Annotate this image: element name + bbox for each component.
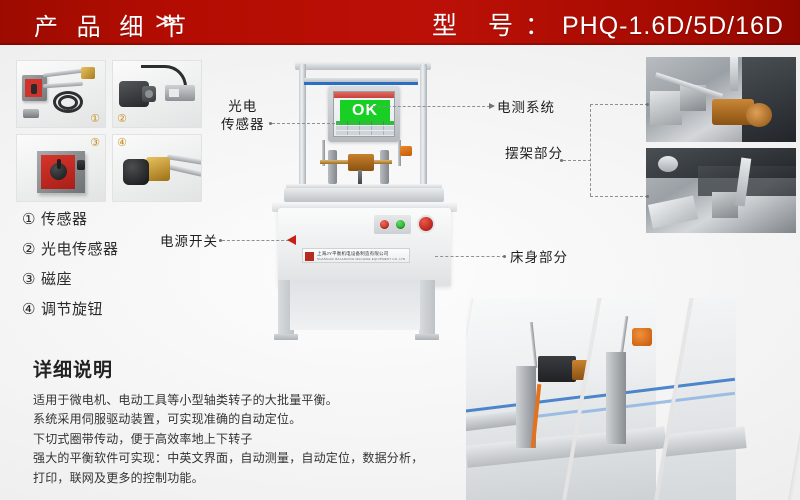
thumb-number-badge: ③ bbox=[90, 136, 100, 149]
leader-dot bbox=[646, 103, 649, 106]
legend-number: ② bbox=[22, 241, 36, 258]
thumbnail-magnetic-base[interactable]: ③ bbox=[16, 134, 106, 202]
callout-swing-frame: 摆架部分 bbox=[505, 142, 563, 162]
product-detail-page: 产 品 细 节 ≫ 型 号：PHQ-1.6D/5D/16D ① ② bbox=[0, 0, 800, 500]
coiled-cable bbox=[58, 95, 78, 110]
screen-row bbox=[336, 126, 394, 130]
control-panel[interactable]: OK bbox=[328, 86, 400, 142]
chevron-right-icon: ≫ bbox=[155, 9, 175, 34]
vertical-post bbox=[730, 57, 738, 91]
nameplate-logo-icon bbox=[305, 252, 314, 261]
cabinet-opening bbox=[290, 280, 420, 330]
model-label: 型 号： bbox=[432, 12, 562, 40]
machine-nameplate: 上海JY平衡机电设备制造有限公司 SHANGHAI BALANCING MACH… bbox=[302, 248, 410, 263]
bracket-branch-line bbox=[590, 196, 648, 197]
connector-pins bbox=[145, 90, 153, 98]
screen-status-ok: OK bbox=[340, 100, 390, 121]
screen-titlebar bbox=[334, 92, 394, 98]
rotor-armature bbox=[538, 356, 576, 382]
thumbnail-grid: ① ② ③ ④ bbox=[16, 60, 202, 204]
composite-machine-photo[interactable] bbox=[466, 298, 800, 500]
leader-dot bbox=[646, 195, 649, 198]
magnetic-base-body bbox=[37, 151, 85, 193]
leader-line bbox=[368, 106, 490, 107]
bracket-vertical-line bbox=[590, 104, 591, 196]
machine-foot bbox=[415, 334, 439, 340]
detail-photo-bed-assembly[interactable] bbox=[646, 148, 796, 233]
magnetic-base-knob bbox=[50, 163, 67, 180]
description-line: 下切式圈带传动，便于高效率地上下转子 bbox=[33, 430, 493, 449]
bracket-branch-line bbox=[590, 104, 648, 105]
model-value: PHQ-1.6D/5D/16D bbox=[562, 12, 784, 40]
callout-bed-section: 床身部分 bbox=[510, 246, 568, 266]
leader-line bbox=[222, 240, 294, 241]
thumbnail-adjust-knob[interactable]: ④ bbox=[112, 134, 202, 202]
balancing-machine-illustration: OK 上海JY平衡 bbox=[262, 58, 467, 348]
thumb-number-badge: ④ bbox=[117, 136, 127, 149]
leader-arrow-icon bbox=[287, 235, 296, 245]
machine-frame-top bbox=[295, 62, 431, 70]
support-arm bbox=[530, 322, 538, 368]
legend-label: 传感器 bbox=[41, 211, 88, 228]
description-line: 打印，联网及更多的控制功能。 bbox=[33, 469, 493, 488]
legend-item-magnetic-base: ③磁座 bbox=[22, 268, 118, 289]
description-block: 详细说明 适用于微电机、电动工具等小型轴类转子的大批量平衡。 系统采用伺服驱动装… bbox=[33, 355, 493, 488]
bracket-stub-line bbox=[563, 160, 591, 161]
callout-photoelectric-sensor: 光电 传感器 bbox=[221, 98, 265, 134]
machine-leg bbox=[419, 280, 435, 336]
photoelectric-sensor-body bbox=[165, 85, 195, 101]
detail-photo-rotor-clamp[interactable] bbox=[646, 57, 796, 142]
magnetic-base-stud bbox=[77, 160, 85, 170]
swing-tower bbox=[606, 352, 626, 444]
legend-item-photoelectric-sensor: ②光电传感器 bbox=[22, 238, 118, 259]
brass-fitting bbox=[81, 67, 95, 79]
swing-frame-left bbox=[328, 150, 337, 184]
machine-bed bbox=[284, 188, 444, 202]
stop-button[interactable] bbox=[380, 220, 389, 229]
leader-dot bbox=[560, 159, 563, 162]
start-button[interactable] bbox=[396, 220, 405, 229]
legend-item-adjust-knob: ④调节旋钮 bbox=[22, 298, 118, 319]
spherical-joint bbox=[658, 156, 678, 172]
hmi-screen[interactable]: OK bbox=[333, 91, 395, 137]
emergency-stop-button[interactable] bbox=[417, 215, 435, 233]
cable-connector bbox=[119, 81, 149, 107]
legend-number: ④ bbox=[22, 301, 36, 318]
description-heading: 详细说明 bbox=[33, 355, 493, 382]
machine-bed bbox=[655, 426, 747, 468]
orange-adjust-knob bbox=[632, 328, 652, 346]
callout-power-switch: 电源开关 bbox=[160, 230, 218, 250]
description-line: 适用于微电机、电动工具等小型轴类转子的大批量平衡。 bbox=[33, 391, 493, 410]
machine-rail-accent bbox=[304, 82, 418, 85]
leader-line bbox=[435, 256, 505, 257]
leader-dot bbox=[503, 255, 506, 258]
thumbnail-photoelectric-sensor[interactable]: ② bbox=[112, 60, 202, 128]
cable-plug bbox=[23, 109, 39, 118]
legend-list: ①传感器 ②光电传感器 ③磁座 ④调节旋钮 bbox=[22, 208, 118, 328]
legend-number: ③ bbox=[22, 271, 36, 288]
copper-winding bbox=[746, 103, 772, 127]
thumb-number-badge: ② bbox=[117, 112, 127, 125]
nameplate-company-en: SHANGHAI BALANCING MACHINE EQUIPMENT CO.… bbox=[317, 257, 405, 261]
swing-frame-right bbox=[380, 150, 389, 184]
callout-line-1: 光电 bbox=[221, 98, 265, 116]
thumbnail-sensor-kit[interactable]: ① bbox=[16, 60, 106, 128]
legend-number: ① bbox=[22, 211, 36, 228]
rotor-armature bbox=[348, 154, 374, 171]
legend-item-sensor: ①传感器 bbox=[22, 208, 118, 229]
model-number: 型 号：PHQ-1.6D/5D/16D bbox=[432, 6, 784, 42]
leader-arrow-icon bbox=[489, 103, 495, 109]
clamp-block bbox=[650, 91, 682, 125]
page-header: 产 品 细 节 ≫ 型 号：PHQ-1.6D/5D/16D bbox=[0, 0, 800, 45]
legend-label: 光电传感器 bbox=[41, 241, 119, 258]
screen-data-rows bbox=[336, 121, 394, 134]
screen-row bbox=[336, 121, 394, 125]
machine-foot bbox=[274, 334, 298, 340]
thumb-number-badge: ① bbox=[90, 112, 100, 125]
callout-line-2: 传感器 bbox=[221, 116, 265, 134]
brass-collar bbox=[146, 157, 170, 181]
screen-row bbox=[336, 131, 394, 135]
leader-line bbox=[272, 123, 340, 124]
legend-label: 磁座 bbox=[41, 271, 72, 288]
description-line: 系统采用伺服驱动装置，可实现准确的自动定位。 bbox=[33, 410, 493, 429]
orange-adjust-knob bbox=[400, 146, 412, 156]
callout-electrical-measurement: 电测系统 bbox=[497, 96, 555, 116]
description-line: 强大的平衡软件可实现：中英文界面，自动测量，自动定位，数据分析， bbox=[33, 449, 493, 468]
black-adjust-knob bbox=[123, 159, 149, 185]
legend-label: 调节旋钮 bbox=[41, 301, 103, 318]
